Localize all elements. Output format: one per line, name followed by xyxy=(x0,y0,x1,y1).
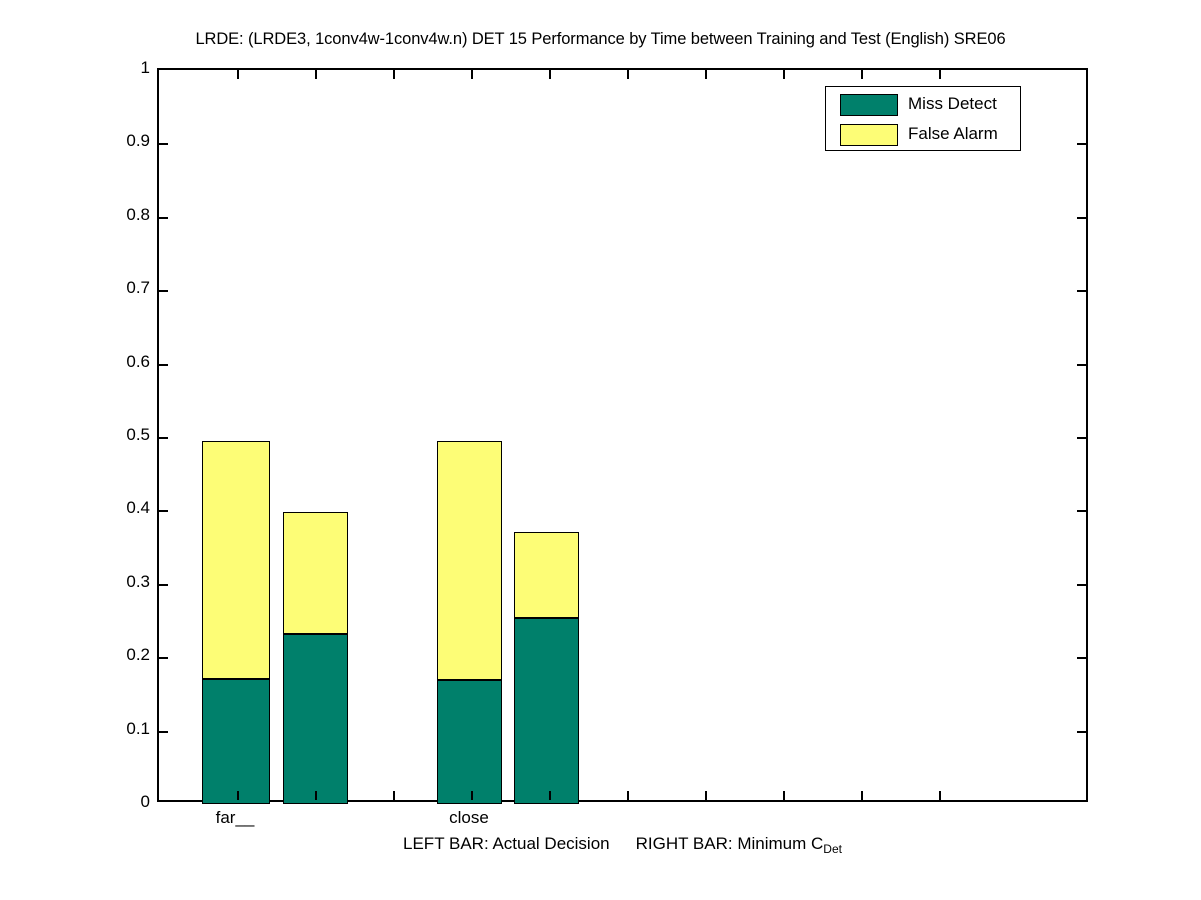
legend: Miss Detect False Alarm xyxy=(825,86,1021,151)
plot-area xyxy=(157,68,1088,802)
bar-segment-miss-detect[interactable] xyxy=(283,634,348,804)
x-axis-tick-mark xyxy=(627,791,629,800)
bar-segment-false-alarm[interactable] xyxy=(283,512,348,634)
x-axis-tick-mark-top xyxy=(627,70,629,79)
page-title: LRDE: (LRDE3, 1conv4w-1conv4w.n) DET 15 … xyxy=(0,30,1201,49)
x-axis-tick-mark-top xyxy=(237,70,239,79)
x-axis-tick-mark-top xyxy=(471,70,473,79)
y-axis-tick-label: 0.1 xyxy=(104,720,150,737)
caption-right-bar-subscript: Det xyxy=(823,842,842,856)
x-axis-caption: LEFT BAR: Actual DecisionRIGHT BAR: Mini… xyxy=(157,834,1088,854)
bar-segment-miss-detect[interactable] xyxy=(514,618,579,804)
x-axis-tick-mark xyxy=(315,791,317,800)
caption-left-bar: LEFT BAR: Actual Decision xyxy=(403,834,610,853)
y-axis-tick-mark xyxy=(159,584,168,586)
y-axis-tick-mark-right xyxy=(1077,731,1086,733)
bar-segment-false-alarm[interactable] xyxy=(437,441,502,680)
y-axis-tick-mark xyxy=(159,657,168,659)
y-axis-tick-mark-right xyxy=(1077,290,1086,292)
y-axis-tick-mark-right xyxy=(1077,143,1086,145)
x-axis-tick-mark xyxy=(861,791,863,800)
x-axis-category-label: close xyxy=(449,808,489,828)
y-axis-tick-label: 0.8 xyxy=(104,206,150,223)
bar-stack[interactable] xyxy=(202,441,270,804)
bars-layer xyxy=(159,70,1090,804)
x-axis-tick-mark-top xyxy=(705,70,707,79)
y-axis-tick-mark xyxy=(159,143,168,145)
x-axis-tick-mark xyxy=(393,791,395,800)
y-axis-tick-label: 0.6 xyxy=(104,353,150,370)
legend-swatch-miss-detect xyxy=(840,94,898,116)
y-axis-tick-mark-right xyxy=(1077,437,1086,439)
x-axis-tick-mark xyxy=(705,791,707,800)
x-axis-tick-mark-top xyxy=(549,70,551,79)
y-axis-tick-label: 0 xyxy=(104,793,150,810)
bar-segment-false-alarm[interactable] xyxy=(514,532,579,617)
y-axis-tick-label: 0.5 xyxy=(104,426,150,443)
legend-label-miss-detect: Miss Detect xyxy=(908,92,997,116)
x-axis-tick-mark xyxy=(471,791,473,800)
y-axis-tick-mark xyxy=(159,437,168,439)
legend-swatch-false-alarm xyxy=(840,124,898,146)
y-axis-tick-mark xyxy=(159,290,168,292)
bar-stack[interactable] xyxy=(283,512,348,804)
figure-canvas: LRDE: (LRDE3, 1conv4w-1conv4w.n) DET 15 … xyxy=(0,0,1201,900)
y-axis-tick-mark xyxy=(159,731,168,733)
bar-segment-miss-detect[interactable] xyxy=(202,679,270,804)
legend-entry-miss-detect: Miss Detect xyxy=(826,90,1022,118)
bar-stack[interactable] xyxy=(437,441,502,804)
x-axis-tick-mark xyxy=(549,791,551,800)
x-axis-tick-mark xyxy=(939,791,941,800)
x-axis-tick-mark-top xyxy=(861,70,863,79)
y-axis-tick-label: 0.3 xyxy=(104,573,150,590)
x-axis-tick-mark xyxy=(783,791,785,800)
y-axis-tick-label: 0.9 xyxy=(104,132,150,149)
y-axis-tick-mark-right xyxy=(1077,510,1086,512)
bar-stack[interactable] xyxy=(514,532,579,804)
y-axis-tick-label: 0.7 xyxy=(104,279,150,296)
y-axis-tick-mark xyxy=(159,217,168,219)
y-axis-tick-label: 1 xyxy=(104,59,150,76)
bar-segment-false-alarm[interactable] xyxy=(202,441,270,680)
x-axis-tick-mark xyxy=(237,791,239,800)
y-axis-tick-label: 0.2 xyxy=(104,646,150,663)
y-axis-tick-labels: 00.10.20.30.40.50.60.70.80.91 xyxy=(100,0,150,900)
x-axis-tick-mark-top xyxy=(315,70,317,79)
y-axis-tick-mark-right xyxy=(1077,584,1086,586)
bar-segment-miss-detect[interactable] xyxy=(437,680,502,804)
x-axis-tick-mark-top xyxy=(393,70,395,79)
legend-entry-false-alarm: False Alarm xyxy=(826,120,1022,148)
x-axis-category-label: far__ xyxy=(216,808,255,828)
y-axis-tick-mark xyxy=(159,364,168,366)
y-axis-tick-label: 0.4 xyxy=(104,499,150,516)
y-axis-tick-mark-right xyxy=(1077,364,1086,366)
y-axis-tick-mark xyxy=(159,510,168,512)
x-axis-tick-mark-top xyxy=(939,70,941,79)
caption-right-bar: RIGHT BAR: Minimum C xyxy=(636,834,824,853)
y-axis-tick-mark-right xyxy=(1077,657,1086,659)
x-axis-tick-mark-top xyxy=(783,70,785,79)
legend-label-false-alarm: False Alarm xyxy=(908,122,998,146)
y-axis-tick-mark-right xyxy=(1077,217,1086,219)
